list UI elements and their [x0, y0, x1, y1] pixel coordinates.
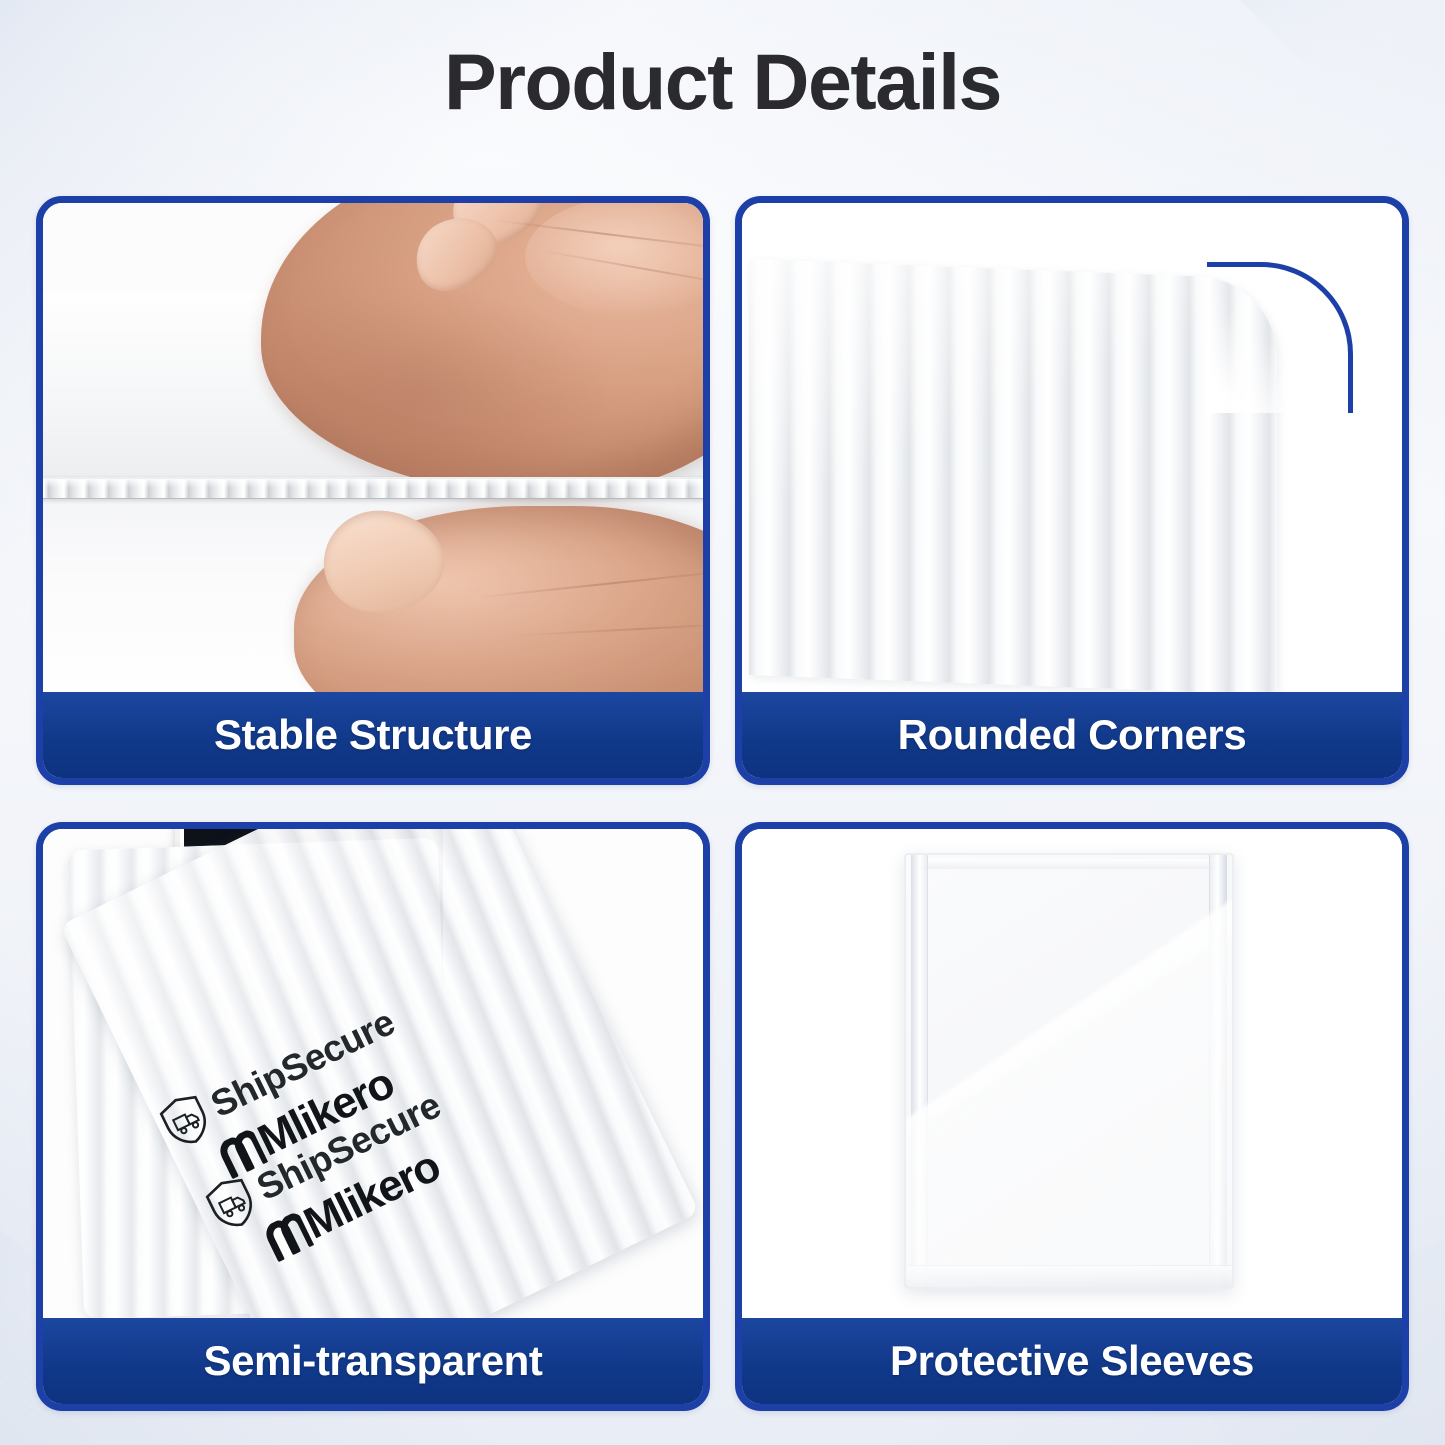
rounded-corner-scene — [742, 203, 1402, 692]
page-title: Product Details — [0, 36, 1445, 128]
card-semi-transparent-image: ShipSecure Mlikero — [43, 829, 703, 1318]
card-semi-transparent[interactable]: ShipSecure Mlikero — [36, 822, 710, 1411]
corrugated-sheet — [749, 259, 1277, 692]
card-stable-structure[interactable]: Stable Structure — [36, 196, 710, 785]
card-caption-rounded-corners: Rounded Corners — [742, 692, 1402, 778]
knuckle-highlight — [525, 203, 703, 318]
card-rounded-corners[interactable]: Rounded Corners — [735, 196, 1409, 785]
skin-crease — [515, 622, 703, 637]
flute-sheen — [43, 479, 703, 498]
rounded-corner-accent-fade — [1207, 262, 1352, 414]
card-rounded-corners-image — [742, 203, 1402, 692]
sheet-gloss — [749, 259, 1277, 692]
fluted-sheet-pinch-scene — [43, 203, 703, 692]
clear-protective-sleeve — [904, 853, 1234, 1288]
lower-thumb — [294, 506, 703, 692]
card-caption-protective-sleeves: Protective Sleeves — [742, 1318, 1402, 1404]
product-details-grid: Stable Structure Rounded Corners — [36, 196, 1409, 1411]
card-protective-sleeves-image — [742, 829, 1402, 1318]
skin-crease — [475, 568, 703, 599]
protective-sleeve-scene — [742, 829, 1402, 1318]
sleeve-diagonal-gloss — [906, 855, 1232, 1286]
semi-transparent-scene: ShipSecure Mlikero — [43, 829, 703, 1318]
flute-cross-section — [43, 477, 703, 499]
card-caption-stable-structure: Stable Structure — [43, 692, 703, 778]
card-caption-semi-transparent: Semi-transparent — [43, 1318, 703, 1404]
card-protective-sleeves[interactable]: Protective Sleeves — [735, 822, 1409, 1411]
card-stable-structure-image — [43, 203, 703, 692]
